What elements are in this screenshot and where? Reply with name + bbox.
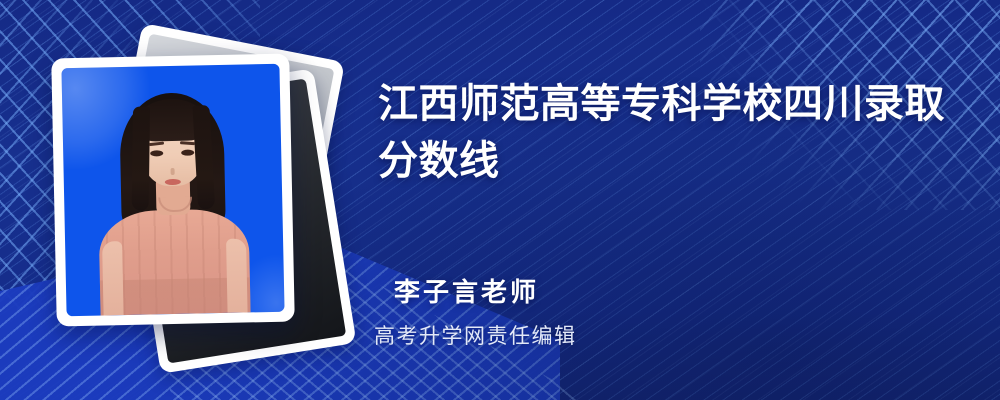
- portrait-nose: [171, 168, 175, 175]
- photo-frame-icon: [51, 54, 295, 327]
- article-header-banner: 江西师范高等专科学校四川录取分数线 李子言老师 高考升学网责任编辑: [0, 0, 1000, 400]
- author-role-label: 高考升学网责任编辑: [374, 320, 577, 350]
- author-id-photo: [61, 64, 284, 317]
- portrait-mouth: [165, 179, 181, 185]
- author-photo-stack: [42, 28, 352, 368]
- portrait-hair-left: [132, 106, 150, 210]
- page-title: 江西师范高等专科学校四川录取分数线: [378, 76, 958, 190]
- portrait-icon: [61, 64, 284, 317]
- portrait-eyebrow-right: [180, 141, 195, 145]
- portrait-arm-left: [102, 241, 124, 316]
- banner-text-column: 江西师范高等专科学校四川录取分数线 李子言老师 高考升学网责任编辑: [378, 0, 978, 400]
- author-name: 李子言老师: [394, 272, 539, 309]
- portrait-arm-right: [226, 238, 248, 313]
